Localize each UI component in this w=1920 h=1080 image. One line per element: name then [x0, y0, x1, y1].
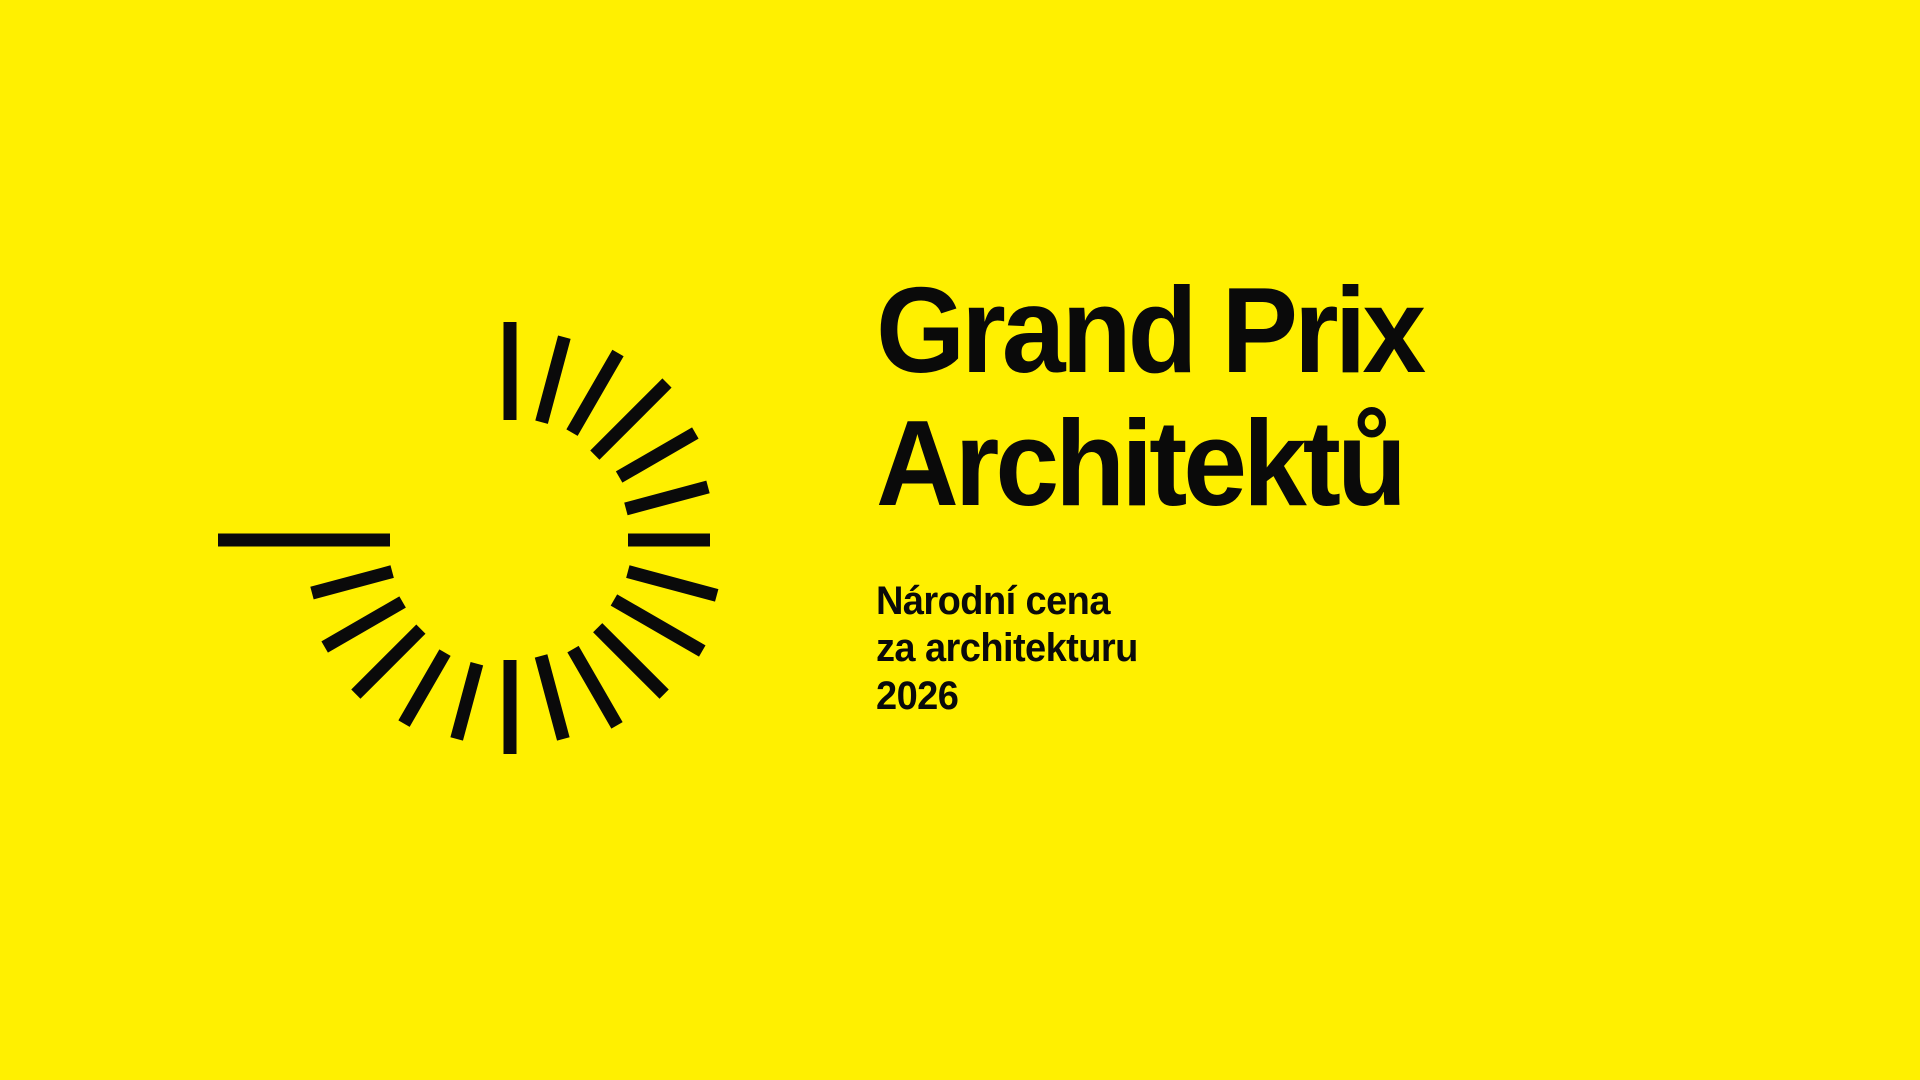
sunburst-ray	[628, 572, 717, 596]
sunburst-ray	[457, 664, 477, 739]
sunburst-rays-svg	[160, 190, 860, 890]
sunburst-ray	[325, 602, 403, 647]
sunburst-ray	[614, 600, 702, 651]
sunburst-ray	[404, 653, 445, 724]
sunburst-logo-mark	[160, 190, 860, 890]
sunburst-ray	[598, 628, 664, 694]
poster-canvas: Grand Prix Architektů Národní cena za ar…	[0, 0, 1920, 1080]
sunburst-ray	[356, 629, 421, 694]
sunburst-ray	[542, 337, 565, 422]
title-line-architektu: Architektů	[876, 405, 1778, 522]
subtitle-line-za-architekturu: za architekturu	[876, 625, 1788, 672]
title-line-grand-prix: Grand Prix	[876, 272, 1778, 389]
sunburst-ray	[619, 433, 695, 477]
subtitle-line-narodni-cena: Národní cena	[876, 578, 1788, 625]
sunburst-ray	[572, 353, 618, 433]
sunburst-ray	[312, 572, 392, 593]
sunburst-ray	[541, 656, 563, 739]
sunburst-ray	[595, 383, 667, 455]
sunburst-ray	[573, 649, 617, 725]
subtitle-line-year: 2026	[876, 673, 1788, 720]
wordmark-block: Grand Prix Architektů Národní cena za ar…	[876, 272, 1836, 720]
subtitle-block: Národní cena za architekturu 2026	[876, 578, 1788, 720]
sunburst-ray	[626, 487, 708, 509]
